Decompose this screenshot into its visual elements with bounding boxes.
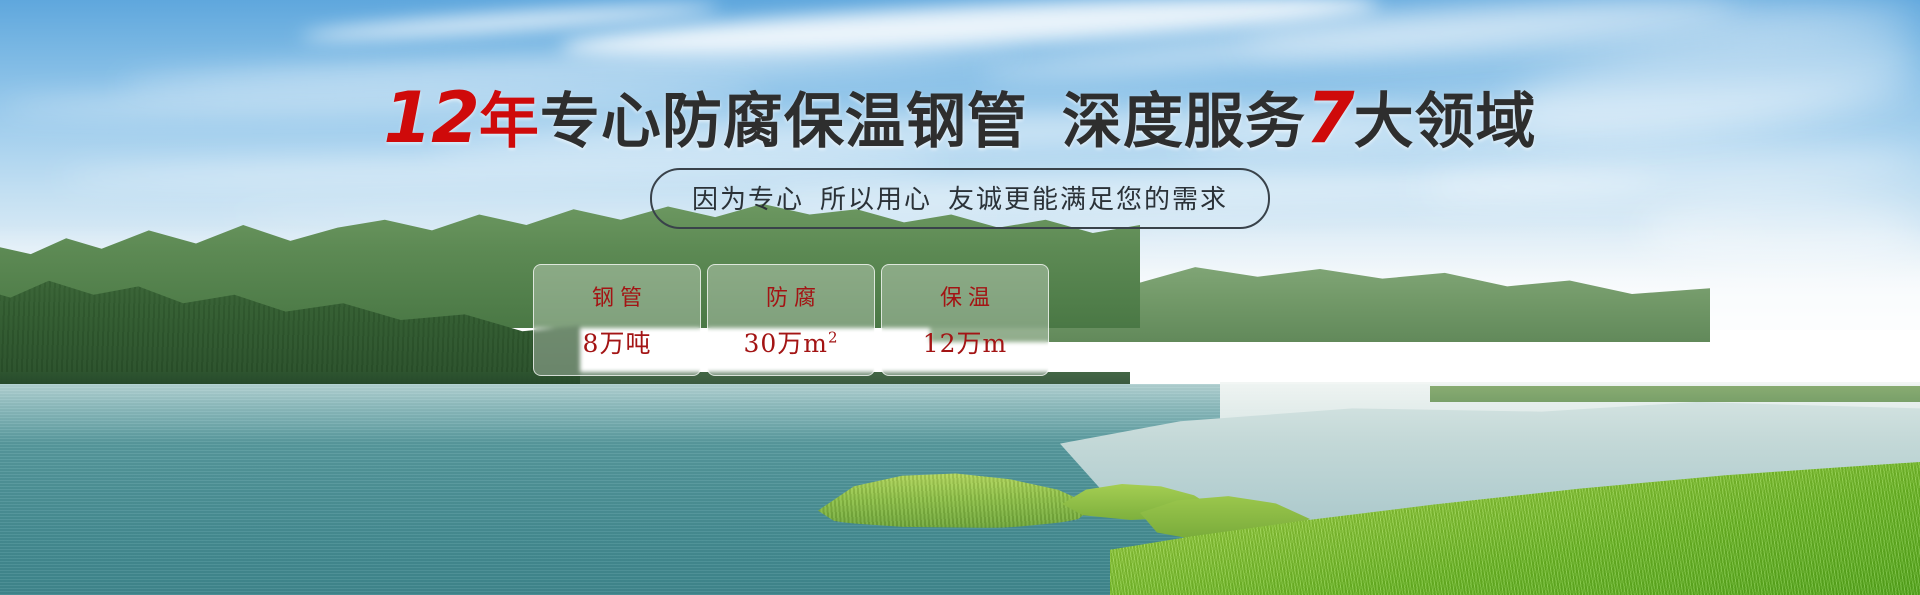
stat-card-value: 12万m (923, 324, 1008, 360)
stat-card-value-superscript: 2 (828, 329, 839, 347)
stat-card-value: 8万吨 (583, 324, 652, 360)
stat-card-caption: 防腐 (760, 280, 822, 312)
headline-main-text: 专心防腐保温钢管 (540, 87, 1028, 157)
stat-card-value-text: 12万m (923, 329, 1008, 358)
stat-card-caption: 钢管 (586, 280, 648, 312)
stat-card-value-text: 8万吨 (583, 329, 652, 358)
stat-card-anticorrosion: 防腐 30万m2 (707, 264, 875, 376)
subtitle-part-1: 因为专心 (692, 185, 804, 215)
stat-card-value: 30万m2 (743, 324, 838, 360)
banner-headline: 12年专心防腐保温钢管深度服务7大领域 (0, 83, 1920, 153)
headline-fields-text: 大领域 (1354, 87, 1537, 157)
headline-years-unit: 年 (479, 87, 540, 157)
banner-subtitle-wrapper: 因为专心所以用心友诚更能满足您的需求 (0, 168, 1920, 229)
stat-card-caption: 保温 (934, 280, 996, 312)
hero-banner: 12年专心防腐保温钢管深度服务7大领域 因为专心所以用心友诚更能满足您的需求 钢… (0, 0, 1920, 595)
stat-cards-group: 钢管 8万吨 防腐 30万m2 保温 12万m (533, 264, 1049, 376)
banner-subtitle-pill: 因为专心所以用心友诚更能满足您的需求 (650, 168, 1270, 229)
subtitle-part-3: 友诚更能满足您的需求 (948, 185, 1228, 215)
far-marsh-strip (1430, 386, 1920, 402)
headline-fields-number: 7 (1306, 77, 1354, 159)
stat-card-value-text: 30万m (743, 329, 828, 358)
headline-service-text: 深度服务 (1062, 87, 1306, 157)
subtitle-part-2: 所以用心 (820, 185, 932, 215)
stat-card-insulation: 保温 12万m (881, 264, 1049, 376)
stat-card-steel-pipe: 钢管 8万吨 (533, 264, 701, 376)
headline-years-number: 12 (383, 77, 478, 159)
